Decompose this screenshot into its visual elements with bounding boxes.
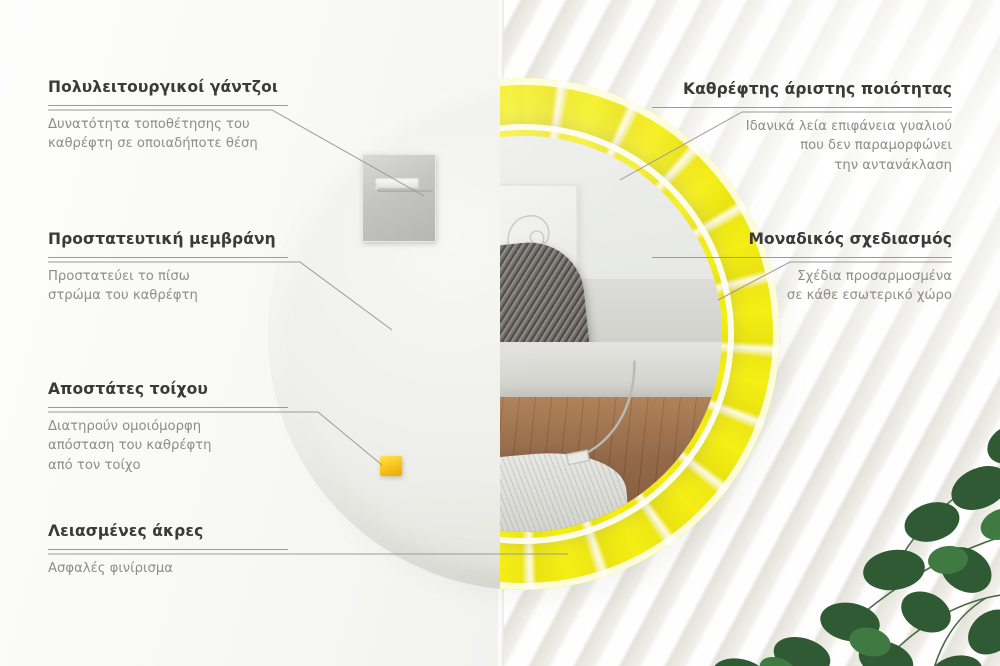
foliage-decoration bbox=[680, 384, 1000, 666]
callout-description: Ασφαλές φινίρισμα bbox=[48, 559, 288, 579]
callout-description: Προστατεύει το πίσω στρώμα του καθρέφτη bbox=[48, 267, 288, 306]
callout-description: Ιδανικά λεία επιφάνεια γυαλιού που δεν π… bbox=[652, 117, 952, 176]
callout-title: Αποστάτες τοίχου bbox=[48, 380, 288, 399]
callout-unique-design: Μοναδικός σχεδιασμός Σχέδια προσαρμοσμέν… bbox=[652, 230, 952, 306]
callout-title: Προστατευτική μεμβράνη bbox=[48, 230, 288, 249]
callout-description: Δυνατότητα τοποθέτησης του καθρέφτη σε ο… bbox=[48, 115, 288, 154]
callout-rule bbox=[48, 105, 288, 106]
callout-membrane: Προστατευτική μεμβράνη Προστατεύει το πί… bbox=[48, 230, 288, 306]
hook-slot bbox=[375, 177, 419, 188]
wall-spacer bbox=[380, 456, 402, 476]
callout-rule bbox=[48, 407, 288, 408]
infographic-canvas: Πολυλειτουργικοί γάντζοι Δυνατότητα τοπο… bbox=[0, 0, 1000, 666]
callout-quality-mirror: Καθρέφτης άριστης ποιότητας Ιδανικά λεία… bbox=[652, 80, 952, 175]
hook-bar bbox=[377, 188, 433, 192]
callout-rule bbox=[652, 107, 952, 108]
callout-edges: Λειασμένες άκρες Ασφαλές φινίρισμα bbox=[48, 522, 288, 578]
leaf-branches bbox=[680, 384, 1000, 666]
callout-description: Σχέδια προσαρμοσμένα σε κάθε εσωτερικό χ… bbox=[652, 267, 952, 306]
callout-rule bbox=[48, 549, 288, 550]
callout-title: Καθρέφτης άριστης ποιότητας bbox=[652, 80, 952, 99]
callout-hooks: Πολυλειτουργικοί γάντζοι Δυνατότητα τοπο… bbox=[48, 78, 288, 154]
callout-description: Διατηρούν ομοιόμορφη απόσταση του καθρέφ… bbox=[48, 417, 288, 476]
callout-spacers: Αποστάτες τοίχου Διατηρούν ομοιόμορφη απ… bbox=[48, 380, 288, 475]
callout-rule bbox=[48, 257, 288, 258]
callout-title: Μοναδικός σχεδιασμός bbox=[652, 230, 952, 249]
callout-title: Λειασμένες άκρες bbox=[48, 522, 288, 541]
callout-rule bbox=[652, 257, 952, 258]
callout-title: Πολυλειτουργικοί γάντζοι bbox=[48, 78, 288, 97]
mounting-plate bbox=[362, 154, 436, 242]
